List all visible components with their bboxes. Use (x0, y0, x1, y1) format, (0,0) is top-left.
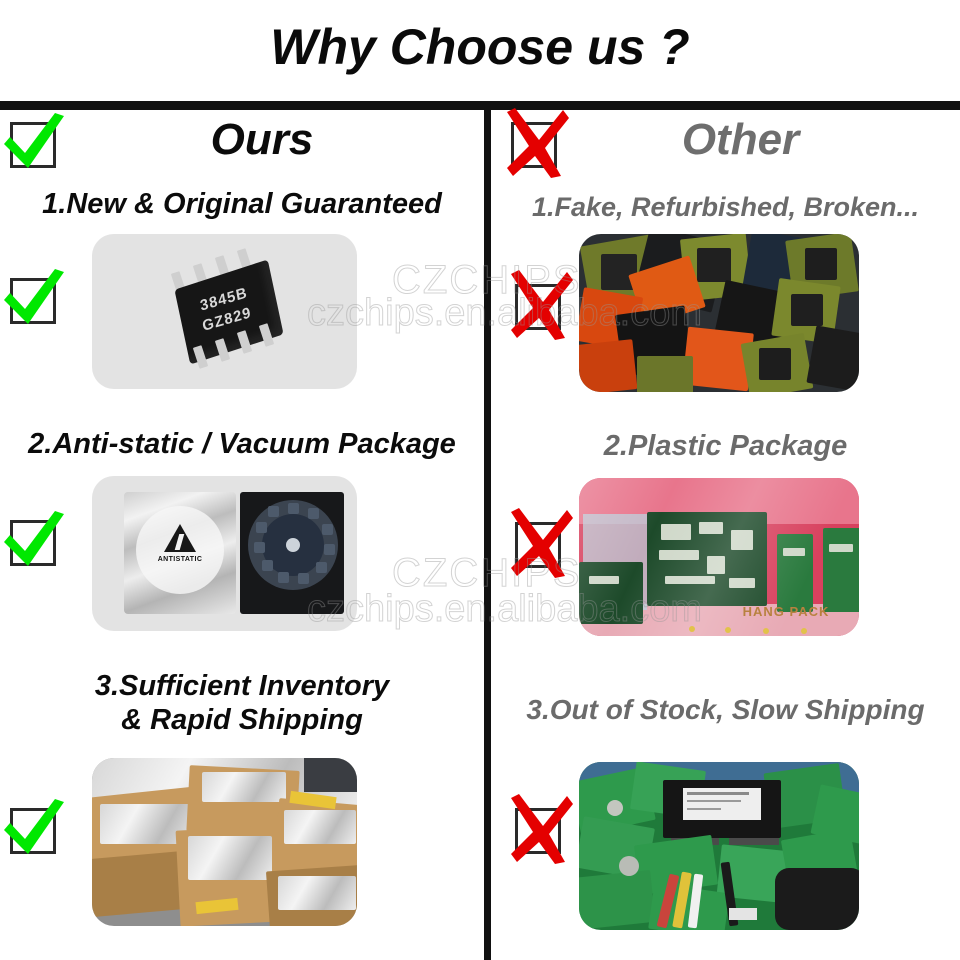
header-divider (0, 101, 960, 110)
check-mark-icon-ours-1 (10, 278, 56, 324)
check-glyph (0, 262, 72, 336)
photo-panel (579, 234, 859, 392)
page-title: Why Choose us ? (0, 22, 960, 72)
feature-ours-1-text: 1.New & Original Guaranteed (0, 188, 484, 220)
column-heading-ours: Ours (0, 116, 484, 164)
cross-mark-icon-other-3 (515, 808, 561, 854)
cross-mark-icon-other-1 (515, 284, 561, 330)
photo-panel (579, 762, 859, 930)
column-divider (484, 110, 491, 960)
check-glyph (0, 504, 72, 578)
check-mark-icon-ours-2 (10, 520, 56, 566)
photo-panel: ANTISTATIC (92, 476, 357, 631)
feature-other-2-text: 2.Plastic Package (491, 430, 960, 462)
cross-glyph (503, 268, 577, 342)
bag-print-text: HANG PACK (731, 604, 841, 619)
photo-panel: HANG PACK (579, 478, 859, 636)
feature-other-3: 3.Out of Stock, Slow Shipping (491, 672, 960, 960)
check-mark-icon-ours-3 (10, 808, 56, 854)
photo-panel: 3845B GZ829 (92, 234, 357, 389)
photo-ours-1: 3845B GZ829 (92, 234, 357, 389)
feature-other-2: 2.Plastic Package (491, 430, 960, 680)
feature-ours-2: 2.Anti-static / Vacuum Package ANTISTATI… (0, 428, 484, 678)
photo-other-3 (579, 762, 859, 930)
cross-mark-icon-other-2 (515, 522, 561, 568)
feature-other-1: 1.Fake, Refurbished, Broken... (491, 192, 960, 442)
feature-other-3-text: 3.Out of Stock, Slow Shipping (491, 694, 960, 725)
feature-ours-1: 1.New & Original Guaranteed 3845B (0, 188, 484, 438)
why-choose-us-banner: Why Choose us ? Ours 1.New & Original Gu… (0, 0, 960, 960)
feature-other-1-text: 1.Fake, Refurbished, Broken... (491, 192, 960, 222)
photo-ours-3 (92, 758, 357, 926)
cross-glyph (503, 506, 577, 580)
antistatic-label: ANTISTATIC (144, 556, 216, 563)
photo-other-1 (579, 234, 859, 392)
feature-ours-3: 3.Sufficient Inventory & Rapid Shipping (0, 670, 484, 960)
photo-other-2: HANG PACK (579, 478, 859, 636)
feature-ours-3-text-line-1: 3.Sufficient Inventory (0, 670, 484, 702)
check-glyph (0, 792, 72, 866)
photo-panel (92, 758, 357, 926)
photo-ours-2: ANTISTATIC (92, 476, 357, 631)
feature-ours-3-text-line-2: & Rapid Shipping (0, 704, 484, 736)
column-heading-other: Other (491, 116, 960, 164)
column-ours: Ours 1.New & Original Guaranteed (0, 110, 484, 960)
column-other: Other 1.Fake, Refurbished, Broken... (491, 110, 960, 960)
cross-glyph (503, 792, 577, 866)
feature-ours-2-text: 2.Anti-static / Vacuum Package (0, 428, 484, 460)
